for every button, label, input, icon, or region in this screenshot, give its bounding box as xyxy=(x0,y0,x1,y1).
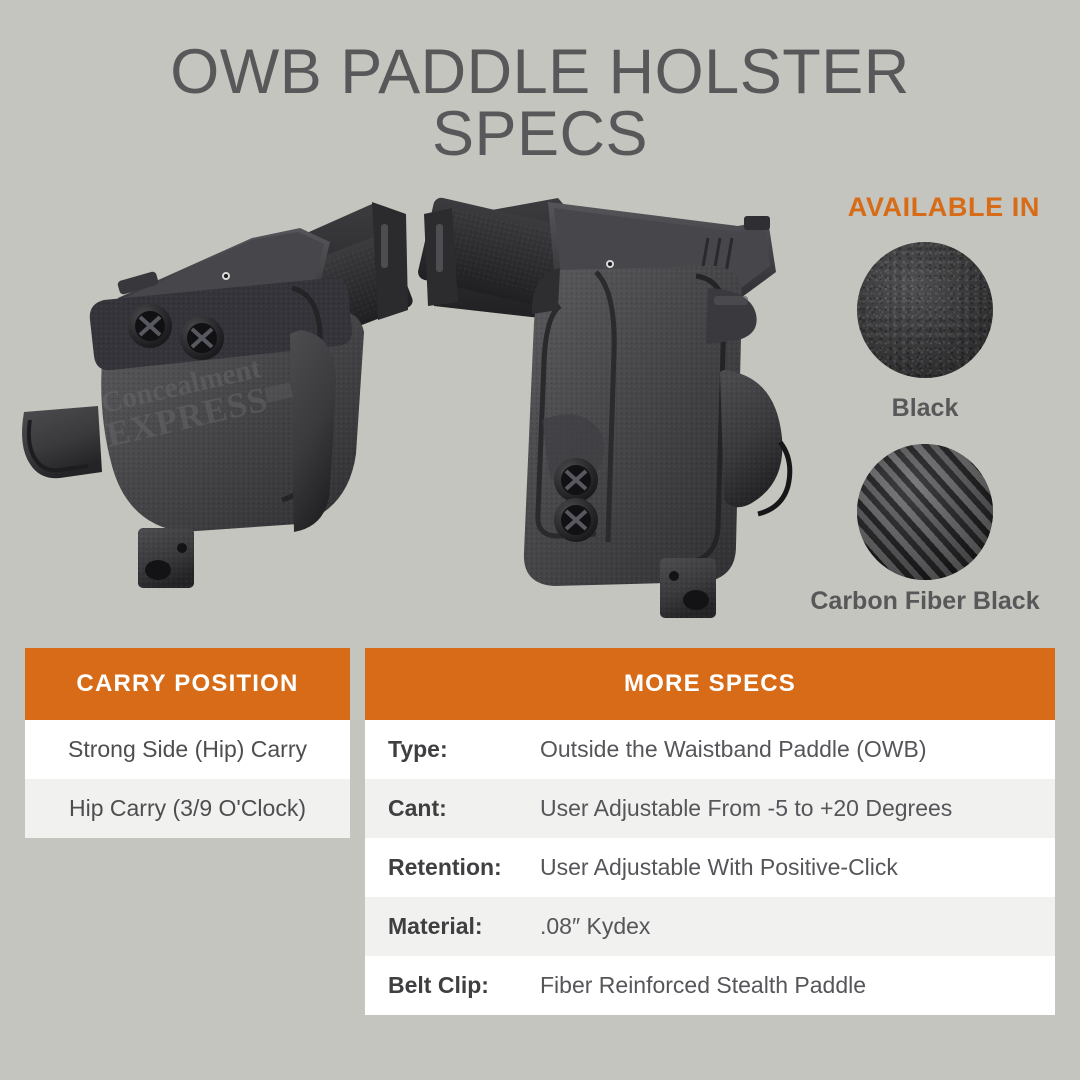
swatch-black[interactable] xyxy=(857,242,993,378)
black-texture-icon xyxy=(857,242,993,378)
page-title-line-1: OWB PADDLE HOLSTER xyxy=(170,37,909,107)
infographic-page: OWB PADDLE HOLSTER SPECS xyxy=(0,0,1080,1080)
product-illustration: Concealment EXPRESS xyxy=(0,180,820,640)
carry-position-header: CARRY POSITION xyxy=(25,648,350,720)
page-title-line-2: SPECS xyxy=(0,104,1080,166)
available-in-label: AVAILABLE IN xyxy=(848,192,1040,223)
spec-label: Cant: xyxy=(388,795,540,822)
carry-position-table: CARRY POSITION Strong Side (Hip) Carry H… xyxy=(25,648,350,838)
spec-value: User Adjustable With Positive-Click xyxy=(540,854,898,881)
spec-label: Material: xyxy=(388,913,540,940)
table-row: Material: .08″ Kydex xyxy=(365,897,1055,956)
retention-screw xyxy=(180,316,224,360)
swatch-label-carbon-fiber-black: Carbon Fiber Black xyxy=(755,587,1080,616)
carry-position-value: Strong Side (Hip) Carry xyxy=(68,736,307,763)
table-row: Retention: User Adjustable With Positive… xyxy=(365,838,1055,897)
table-row: Type: Outside the Waistband Paddle (OWB) xyxy=(365,720,1055,779)
more-specs-table: MORE SPECS Type: Outside the Waistband P… xyxy=(365,648,1055,1015)
carry-position-value: Hip Carry (3/9 O'Clock) xyxy=(69,795,306,822)
swatch-label-black: Black xyxy=(755,394,1080,423)
table-row: Hip Carry (3/9 O'Clock) xyxy=(25,779,350,838)
spec-value: .08″ Kydex xyxy=(540,913,650,940)
spec-label: Type: xyxy=(388,736,540,763)
holster-right-view xyxy=(416,196,789,618)
carbon-fiber-texture-icon xyxy=(857,444,993,580)
swatch-carbon-fiber-black[interactable] xyxy=(857,444,993,580)
page-title: OWB PADDLE HOLSTER SPECS xyxy=(0,42,1080,165)
spec-value: Fiber Reinforced Stealth Paddle xyxy=(540,972,866,999)
spec-label: Retention: xyxy=(388,854,540,881)
retention-screw xyxy=(128,304,172,348)
table-row: Belt Clip: Fiber Reinforced Stealth Padd… xyxy=(365,956,1055,1015)
spec-value: User Adjustable From -5 to +20 Degrees xyxy=(540,795,952,822)
spec-value: Outside the Waistband Paddle (OWB) xyxy=(540,736,927,763)
table-row: Cant: User Adjustable From -5 to +20 Deg… xyxy=(365,779,1055,838)
retention-screw xyxy=(554,498,598,542)
holster-left-view: Concealment EXPRESS xyxy=(22,202,415,588)
retention-screw xyxy=(554,458,598,502)
more-specs-header: MORE SPECS xyxy=(365,648,1055,720)
spec-label: Belt Clip: xyxy=(388,972,540,999)
table-row: Strong Side (Hip) Carry xyxy=(25,720,350,779)
